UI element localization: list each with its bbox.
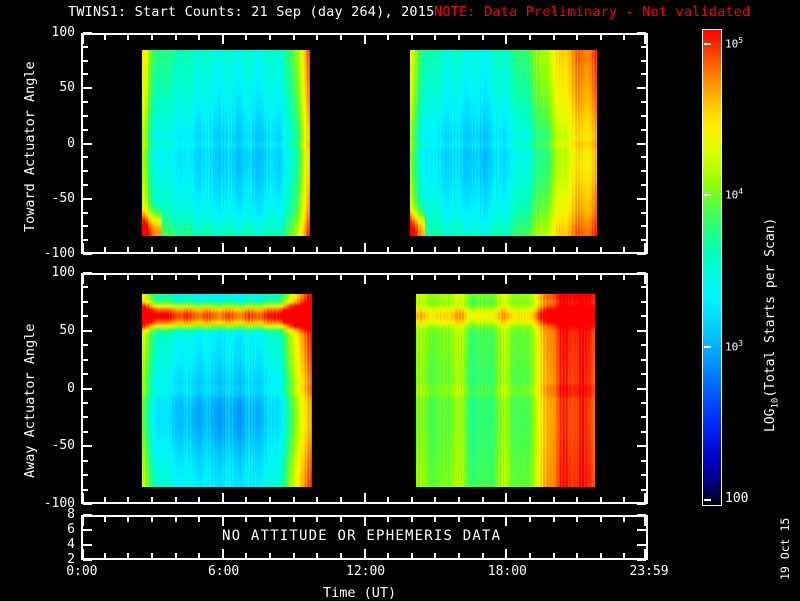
y-tick-label-1-2: 0 bbox=[23, 381, 75, 396]
y-tick-minor-right-1-0-2 bbox=[641, 301, 646, 303]
x-tick-label-3: 18:00 bbox=[488, 564, 527, 579]
y-tick-label-0-0: 100 bbox=[23, 25, 75, 40]
x-tick-minor-top-2-3-1 bbox=[529, 517, 531, 522]
x-tick-minor-top-0-2-4 bbox=[458, 35, 460, 40]
x-tick-minor-bot-2-2-4 bbox=[458, 553, 460, 558]
y-tick-major-right-0-0 bbox=[637, 32, 646, 34]
x-tick-label-0: 0:00 bbox=[66, 564, 97, 579]
x-tick-minor-bot-2-3-2 bbox=[553, 553, 555, 558]
x-tick-minor-top-2-2-4 bbox=[458, 517, 460, 522]
x-tick-minor-top-1-3-4 bbox=[600, 275, 602, 280]
x-tick-minor-bot-2-1-3 bbox=[293, 553, 295, 558]
x-tick-major-top-2-2 bbox=[364, 517, 366, 526]
y-tick-major-1-2 bbox=[83, 388, 92, 390]
x-tick-minor-bot-1-3-4 bbox=[600, 497, 602, 502]
x-tick-minor-bot-0-2-1 bbox=[387, 247, 389, 252]
x-tick-minor-top-0-3-2 bbox=[553, 35, 555, 40]
x-tick-minor-top-1-3-5 bbox=[623, 275, 625, 280]
x-tick-minor-bot-1-2-1 bbox=[387, 497, 389, 502]
x-tick-minor-bot-0-2-3 bbox=[434, 247, 436, 252]
y-tick-minor-1-3-2 bbox=[83, 474, 88, 476]
x-tick-label-4: 23:59 bbox=[630, 564, 669, 579]
x-tick-minor-bot-1-3-5 bbox=[623, 497, 625, 502]
x-tick-label-2: 12:00 bbox=[346, 564, 385, 579]
x-tick-minor-bot-2-0-3 bbox=[151, 553, 153, 558]
x-tick-minor-bot-0-3-3 bbox=[576, 247, 578, 252]
x-tick-minor-top-0-2-5 bbox=[482, 35, 484, 40]
x-tick-minor-bot-1-1-3 bbox=[293, 497, 295, 502]
y-tick-major-right-2-1 bbox=[637, 529, 646, 531]
x-tick-minor-bot-2-0-4 bbox=[175, 553, 177, 558]
x-tick-minor-top-1-3-1 bbox=[529, 275, 531, 280]
y-tick-major-0-3 bbox=[83, 198, 92, 200]
y-tick-major-right-1-1 bbox=[637, 330, 646, 332]
x-tick-minor-bot-2-0-1 bbox=[104, 553, 106, 558]
x-tick-minor-bot-0-0-4 bbox=[175, 247, 177, 252]
x-tick-minor-top-0-3-1 bbox=[529, 35, 531, 40]
x-tick-minor-bot-2-2-1 bbox=[387, 553, 389, 558]
y-tick-minor-right-1-3-2 bbox=[641, 474, 646, 476]
y-tick-label-1-3: -50 bbox=[23, 438, 75, 453]
y-tick-minor-right-1-0-1 bbox=[641, 286, 646, 288]
y-tick-label-2-2: 4 bbox=[23, 537, 75, 552]
x-tick-major-top-0-2 bbox=[364, 35, 366, 44]
x-tick-minor-bot-2-1-1 bbox=[245, 553, 247, 558]
y-tick-minor-right-1-1-1 bbox=[641, 344, 646, 346]
x-tick-minor-bot-0-2-2 bbox=[411, 247, 413, 252]
y-tick-label-0-4: -100 bbox=[23, 246, 75, 261]
y-tick-label-2-1: 6 bbox=[23, 522, 75, 537]
y-tick-minor-1-1-2 bbox=[83, 359, 88, 361]
x-tick-minor-bot-2-2-2 bbox=[411, 553, 413, 558]
y-tick-minor-1-0-2 bbox=[83, 301, 88, 303]
plot-canvas: TWINS1: Start Counts: 21 Sep (day 264), … bbox=[0, 0, 800, 600]
y-tick-major-right-2-3 bbox=[637, 559, 646, 561]
x-tick-major-bot-0-3 bbox=[505, 243, 507, 252]
x-tick-minor-top-2-3-4 bbox=[600, 517, 602, 522]
x-tick-minor-top-0-2-3 bbox=[434, 35, 436, 40]
colorbar-tick-2 bbox=[704, 346, 711, 348]
y-tick-minor-right-0-2-2 bbox=[641, 170, 646, 172]
x-tick-minor-top-2-0-1 bbox=[104, 517, 106, 522]
y-tick-minor-0-1-2 bbox=[83, 115, 88, 117]
x-tick-minor-bot-1-3-2 bbox=[553, 497, 555, 502]
panel-toward-actuator-angle bbox=[81, 33, 648, 254]
x-tick-minor-bot-0-3-1 bbox=[529, 247, 531, 252]
spectrogram-column bbox=[311, 294, 312, 487]
x-tick-minor-bot-2-3-3 bbox=[576, 553, 578, 558]
x-tick-minor-bot-1-2-4 bbox=[458, 497, 460, 502]
x-tick-major-top-2-0 bbox=[82, 517, 84, 526]
x-tick-minor-top-1-0-4 bbox=[175, 275, 177, 280]
x-tick-minor-bot-2-3-1 bbox=[529, 553, 531, 558]
y-tick-minor-right-1-3-1 bbox=[641, 460, 646, 462]
y-tick-minor-1-1-1 bbox=[83, 344, 88, 346]
x-tick-minor-top-1-2-5 bbox=[482, 275, 484, 280]
x-tick-minor-top-2-3-3 bbox=[576, 517, 578, 522]
render-datestamp: 19 Oct 15 bbox=[778, 518, 792, 580]
x-tick-major-top-0-4 bbox=[644, 35, 646, 44]
x-tick-label-1: 6:00 bbox=[208, 564, 239, 579]
y-tick-label-1-0: 100 bbox=[23, 265, 75, 280]
x-tick-minor-bot-2-3-4 bbox=[600, 553, 602, 558]
x-tick-major-bot-2-4 bbox=[644, 549, 646, 558]
x-tick-minor-top-2-2-5 bbox=[482, 517, 484, 522]
x-tick-minor-bot-0-2-4 bbox=[458, 247, 460, 252]
x-tick-minor-bot-0-2-5 bbox=[482, 247, 484, 252]
colorbar-tick-label-3: 100 bbox=[725, 491, 748, 506]
x-tick-major-top-0-0 bbox=[82, 35, 84, 44]
colorbar bbox=[702, 29, 722, 506]
x-tick-minor-top-0-3-4 bbox=[600, 35, 602, 40]
x-tick-minor-top-1-2-4 bbox=[458, 275, 460, 280]
colorbar-tick-0 bbox=[704, 43, 711, 45]
x-tick-major-top-2-4 bbox=[644, 517, 646, 526]
x-tick-minor-bot-0-0-5 bbox=[198, 247, 200, 252]
y-tick-major-right-1-3 bbox=[637, 445, 646, 447]
y-tick-major-right-0-4 bbox=[637, 253, 646, 255]
spectrogram-column bbox=[596, 50, 597, 236]
colorbar-tick-label-2: 103 bbox=[725, 339, 743, 354]
y-tick-major-0-1 bbox=[83, 87, 92, 89]
y-tick-minor-right-0-1-1 bbox=[641, 101, 646, 103]
x-tick-minor-bot-2-0-2 bbox=[127, 553, 129, 558]
x-tick-minor-top-0-1-3 bbox=[293, 35, 295, 40]
x-tick-minor-top-0-1-2 bbox=[269, 35, 271, 40]
x-tick-major-bot-1-1 bbox=[222, 493, 224, 502]
y-tick-minor-0-3-1 bbox=[83, 212, 88, 214]
y-tick-label-0-3: -50 bbox=[23, 191, 75, 206]
x-tick-minor-top-2-0-2 bbox=[127, 517, 129, 522]
y-tick-minor-right-1-0-3 bbox=[641, 315, 646, 317]
x-tick-minor-bot-1-2-5 bbox=[482, 497, 484, 502]
x-tick-minor-bot-0-0-2 bbox=[127, 247, 129, 252]
x-tick-major-top-2-1 bbox=[222, 517, 224, 526]
x-tick-minor-top-0-3-3 bbox=[576, 35, 578, 40]
y-tick-minor-right-0-1-3 bbox=[641, 129, 646, 131]
y-tick-major-0-2 bbox=[83, 143, 92, 145]
x-tick-minor-bot-1-1-1 bbox=[245, 497, 247, 502]
x-tick-minor-bot-0-3-2 bbox=[553, 247, 555, 252]
x-tick-minor-bot-2-0-5 bbox=[198, 553, 200, 558]
x-tick-minor-bot-0-0-1 bbox=[104, 247, 106, 252]
y-tick-major-right-1-0 bbox=[637, 272, 646, 274]
y-tick-label-0-2: 0 bbox=[23, 136, 75, 151]
spectrogram-block-1-0 bbox=[142, 294, 311, 487]
y-tick-major-0-0 bbox=[83, 32, 92, 34]
y-tick-major-right-2-2 bbox=[637, 544, 646, 546]
x-tick-minor-top-2-1-3 bbox=[293, 517, 295, 522]
x-tick-minor-top-2-1-5 bbox=[340, 517, 342, 522]
y-tick-major-1-1 bbox=[83, 330, 92, 332]
y-tick-minor-0-0-2 bbox=[83, 60, 88, 62]
y-tick-minor-right-0-2-1 bbox=[641, 156, 646, 158]
no-ephemeris-message: NO ATTITUDE OR EPHEMERIS DATA bbox=[222, 528, 501, 544]
x-tick-major-top-0-3 bbox=[505, 35, 507, 44]
x-tick-minor-bot-0-1-4 bbox=[316, 247, 318, 252]
y-tick-minor-0-1-1 bbox=[83, 101, 88, 103]
y-tick-major-right-1-4 bbox=[637, 503, 646, 505]
x-tick-major-bot-0-4 bbox=[644, 243, 646, 252]
x-tick-minor-bot-1-0-2 bbox=[127, 497, 129, 502]
x-tick-minor-bot-0-3-4 bbox=[600, 247, 602, 252]
x-tick-minor-bot-1-0-1 bbox=[104, 497, 106, 502]
x-tick-minor-bot-1-0-3 bbox=[151, 497, 153, 502]
colorbar-tick-1 bbox=[704, 194, 711, 196]
y-tick-minor-0-2-1 bbox=[83, 156, 88, 158]
x-tick-minor-bot-1-2-3 bbox=[434, 497, 436, 502]
y-tick-minor-right-1-3-3 bbox=[641, 489, 646, 491]
x-tick-minor-top-2-3-5 bbox=[623, 517, 625, 522]
x-tick-minor-top-2-0-5 bbox=[198, 517, 200, 522]
spectrogram-block-0-0 bbox=[142, 50, 309, 236]
x-tick-major-bot-0-2 bbox=[364, 243, 366, 252]
y-tick-minor-0-2-3 bbox=[83, 184, 88, 186]
panel-away-actuator-angle bbox=[81, 273, 648, 504]
x-tick-major-bot-2-1 bbox=[222, 549, 224, 558]
x-tick-minor-top-1-0-3 bbox=[151, 275, 153, 280]
x-tick-major-bot-2-3 bbox=[505, 549, 507, 558]
x-tick-minor-top-1-1-2 bbox=[269, 275, 271, 280]
x-tick-minor-top-2-1-1 bbox=[245, 517, 247, 522]
spectrogram-column bbox=[309, 50, 310, 236]
x-tick-minor-top-1-0-1 bbox=[104, 275, 106, 280]
y-tick-minor-1-2-2 bbox=[83, 416, 88, 418]
x-tick-minor-bot-2-2-3 bbox=[434, 553, 436, 558]
y-tick-minor-right-1-1-2 bbox=[641, 359, 646, 361]
x-tick-minor-bot-1-2-2 bbox=[411, 497, 413, 502]
colorbar-tick-3 bbox=[704, 499, 711, 501]
x-tick-minor-top-0-2-1 bbox=[387, 35, 389, 40]
x-tick-major-top-1-3 bbox=[505, 275, 507, 284]
x-tick-minor-top-0-1-1 bbox=[245, 35, 247, 40]
y-tick-minor-right-0-2-3 bbox=[641, 184, 646, 186]
x-tick-minor-bot-2-1-4 bbox=[316, 553, 318, 558]
y-tick-major-2-1 bbox=[83, 529, 92, 531]
x-tick-minor-top-1-3-3 bbox=[576, 275, 578, 280]
x-tick-minor-top-0-0-1 bbox=[104, 35, 106, 40]
y-tick-major-0-4 bbox=[83, 253, 92, 255]
x-tick-minor-bot-0-3-5 bbox=[623, 247, 625, 252]
preliminary-data-warning: NOTE: Data Preliminary - Not validated bbox=[434, 4, 750, 20]
x-tick-minor-top-2-2-1 bbox=[387, 517, 389, 522]
x-tick-minor-bot-0-0-3 bbox=[151, 247, 153, 252]
y-tick-minor-right-1-2-1 bbox=[641, 402, 646, 404]
y-tick-minor-1-3-1 bbox=[83, 460, 88, 462]
y-tick-major-right-1-2 bbox=[637, 388, 646, 390]
x-tick-minor-top-1-1-4 bbox=[316, 275, 318, 280]
x-tick-minor-bot-0-1-1 bbox=[245, 247, 247, 252]
x-tick-minor-bot-1-0-4 bbox=[175, 497, 177, 502]
x-tick-minor-top-2-0-4 bbox=[175, 517, 177, 522]
x-tick-major-bot-1-4 bbox=[644, 493, 646, 502]
x-tick-major-bot-1-3 bbox=[505, 493, 507, 502]
spectrogram-column bbox=[594, 294, 595, 487]
y-tick-minor-right-0-0-2 bbox=[641, 60, 646, 62]
x-tick-minor-top-0-0-2 bbox=[127, 35, 129, 40]
x-tick-minor-top-1-1-1 bbox=[245, 275, 247, 280]
x-tick-major-bot-2-2 bbox=[364, 549, 366, 558]
x-tick-minor-top-0-1-4 bbox=[316, 35, 318, 40]
x-tick-minor-top-1-2-3 bbox=[434, 275, 436, 280]
spectrogram-block-1-1 bbox=[416, 294, 595, 487]
x-tick-minor-bot-0-1-3 bbox=[293, 247, 295, 252]
y-tick-label-2-0: 8 bbox=[23, 507, 75, 522]
x-tick-major-top-1-2 bbox=[364, 275, 366, 284]
y-tick-major-right-0-1 bbox=[637, 87, 646, 89]
x-tick-major-bot-2-0 bbox=[82, 549, 84, 558]
x-tick-minor-top-1-1-3 bbox=[293, 275, 295, 280]
x-tick-minor-top-0-0-4 bbox=[175, 35, 177, 40]
y-tick-minor-right-0-0-1 bbox=[641, 46, 646, 48]
y-tick-major-right-0-3 bbox=[637, 198, 646, 200]
colorbar-gradient bbox=[703, 30, 721, 505]
x-tick-major-top-1-0 bbox=[82, 275, 84, 284]
y-tick-major-2-0 bbox=[83, 514, 92, 516]
x-tick-minor-top-2-3-2 bbox=[553, 517, 555, 522]
x-tick-minor-bot-1-0-5 bbox=[198, 497, 200, 502]
spectrogram-block-0-1 bbox=[410, 50, 597, 236]
x-tick-minor-top-1-0-5 bbox=[198, 275, 200, 280]
x-tick-minor-top-0-1-5 bbox=[340, 35, 342, 40]
x-tick-major-top-2-3 bbox=[505, 517, 507, 526]
x-tick-minor-bot-1-3-3 bbox=[576, 497, 578, 502]
y-tick-major-1-0 bbox=[83, 272, 92, 274]
x-tick-minor-bot-2-1-5 bbox=[340, 553, 342, 558]
x-tick-major-bot-0-1 bbox=[222, 243, 224, 252]
y-tick-minor-0-3-2 bbox=[83, 225, 88, 227]
y-tick-minor-1-0-1 bbox=[83, 286, 88, 288]
x-tick-minor-bot-0-1-5 bbox=[340, 247, 342, 252]
y-tick-minor-right-0-1-2 bbox=[641, 115, 646, 117]
y-tick-minor-right-0-3-1 bbox=[641, 212, 646, 214]
y-tick-minor-right-0-0-3 bbox=[641, 73, 646, 75]
y-tick-minor-right-1-1-3 bbox=[641, 373, 646, 375]
y-tick-minor-right-0-3-3 bbox=[641, 239, 646, 241]
x-tick-minor-top-2-2-3 bbox=[434, 517, 436, 522]
x-tick-minor-bot-1-1-2 bbox=[269, 497, 271, 502]
y-tick-minor-right-1-2-2 bbox=[641, 416, 646, 418]
y-tick-major-right-2-0 bbox=[637, 514, 646, 516]
panel-away-ylabel: Away Actuator Angle bbox=[22, 324, 38, 478]
y-tick-minor-1-2-3 bbox=[83, 431, 88, 433]
x-tick-major-top-0-1 bbox=[222, 35, 224, 44]
x-tick-minor-top-1-3-2 bbox=[553, 275, 555, 280]
y-tick-minor-0-0-3 bbox=[83, 73, 88, 75]
x-tick-minor-top-2-1-2 bbox=[269, 517, 271, 522]
x-tick-minor-top-1-2-1 bbox=[387, 275, 389, 280]
x-tick-minor-bot-1-1-4 bbox=[316, 497, 318, 502]
y-tick-major-2-2 bbox=[83, 544, 92, 546]
x-tick-minor-bot-1-1-5 bbox=[340, 497, 342, 502]
x-tick-minor-top-2-0-3 bbox=[151, 517, 153, 522]
x-tick-minor-top-2-2-2 bbox=[411, 517, 413, 522]
y-tick-minor-0-3-3 bbox=[83, 239, 88, 241]
x-tick-minor-top-2-1-4 bbox=[316, 517, 318, 522]
y-tick-major-right-0-2 bbox=[637, 143, 646, 145]
x-tick-major-bot-0-0 bbox=[82, 243, 84, 252]
y-tick-minor-1-1-3 bbox=[83, 373, 88, 375]
y-tick-minor-right-0-3-2 bbox=[641, 225, 646, 227]
x-tick-minor-top-0-0-5 bbox=[198, 35, 200, 40]
x-tick-minor-bot-0-1-2 bbox=[269, 247, 271, 252]
colorbar-tick-label-0: 105 bbox=[725, 36, 743, 51]
y-tick-label-0-1: 50 bbox=[23, 80, 75, 95]
x-tick-minor-top-0-0-3 bbox=[151, 35, 153, 40]
x-tick-minor-bot-1-3-1 bbox=[529, 497, 531, 502]
y-tick-minor-1-0-3 bbox=[83, 315, 88, 317]
x-tick-major-top-1-1 bbox=[222, 275, 224, 284]
y-tick-minor-1-3-3 bbox=[83, 489, 88, 491]
y-tick-minor-right-1-2-3 bbox=[641, 431, 646, 433]
x-tick-minor-top-1-0-2 bbox=[127, 275, 129, 280]
x-tick-minor-bot-2-1-2 bbox=[269, 553, 271, 558]
y-tick-major-1-4 bbox=[83, 503, 92, 505]
colorbar-title: LOG10(Total Starts per Scan) bbox=[763, 218, 781, 432]
x-tick-major-bot-1-2 bbox=[364, 493, 366, 502]
y-tick-major-1-3 bbox=[83, 445, 92, 447]
x-tick-minor-top-0-3-5 bbox=[623, 35, 625, 40]
x-tick-minor-bot-2-2-5 bbox=[482, 553, 484, 558]
y-tick-minor-0-1-3 bbox=[83, 129, 88, 131]
x-tick-minor-top-0-2-2 bbox=[411, 35, 413, 40]
chart-title: TWINS1: Start Counts: 21 Sep (day 264), … bbox=[68, 4, 434, 20]
colorbar-tick-label-1: 104 bbox=[725, 187, 743, 202]
y-tick-minor-1-2-1 bbox=[83, 402, 88, 404]
x-tick-minor-bot-2-3-5 bbox=[623, 553, 625, 558]
x-axis-title: Time (UT) bbox=[323, 585, 396, 601]
x-tick-minor-top-1-1-5 bbox=[340, 275, 342, 280]
y-tick-major-2-3 bbox=[83, 559, 92, 561]
y-tick-label-1-1: 50 bbox=[23, 323, 75, 338]
y-tick-minor-0-0-1 bbox=[83, 46, 88, 48]
y-tick-minor-0-2-2 bbox=[83, 170, 88, 172]
x-tick-major-bot-1-0 bbox=[82, 493, 84, 502]
x-tick-minor-top-1-2-2 bbox=[411, 275, 413, 280]
x-tick-major-top-1-4 bbox=[644, 275, 646, 284]
